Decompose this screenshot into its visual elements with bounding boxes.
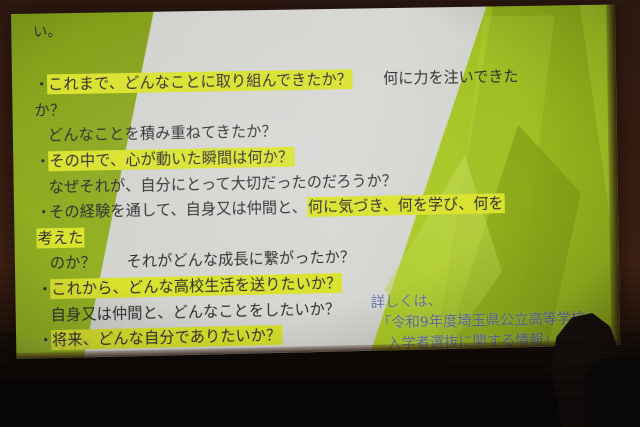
plain-text: どんなことを積み重ねてきたか？ <box>48 123 277 145</box>
bullet-marker: ・ <box>34 73 47 99</box>
plain-text: のか？ それがどんな成長に繋がったか？ <box>50 248 355 272</box>
photo-scene: い。 ・これまで、どんなことに取り組んできたか？ 何に力を注いできたか？どんなこ… <box>0 0 640 427</box>
bullet-marker: ・ <box>37 277 50 303</box>
highlighted-text: その中で、心が動いた瞬間は何か？ <box>48 147 294 172</box>
plain-text: その経験を通して、自身又は仲間と、 <box>49 198 307 221</box>
slide-watermark: ○○○○○○ <box>22 337 92 352</box>
highlighted-text: 何に気づき、何を学び、何を <box>307 193 505 217</box>
bullet-marker: ・ <box>35 149 48 175</box>
plain-text: 何に力を注いできた <box>353 68 519 89</box>
plain-text: か？ <box>34 101 65 120</box>
highlighted-text: 考えた <box>36 227 84 248</box>
plain-text: 自身又は仲間と、どんなことをしたいか？ <box>51 299 341 323</box>
highlighted-text: これまで、どんなことに取り組んできたか？ <box>47 69 353 94</box>
highlighted-text: これから、どんな高校生活を送りたいか？ <box>50 273 342 299</box>
projection-screen: い。 ・これまで、どんなことに取り組んできたか？ 何に力を注いできたか？どんなこ… <box>11 5 620 359</box>
person-silhouette-head <box>584 357 640 427</box>
slide-surface: い。 ・これまで、どんなことに取り組んできたか？ 何に力を注いできたか？どんなこ… <box>11 5 620 359</box>
bullet-marker: ・ <box>36 200 49 226</box>
plain-text: なぜそれが、自分にとって大切だったのだろうか？ <box>49 171 398 196</box>
